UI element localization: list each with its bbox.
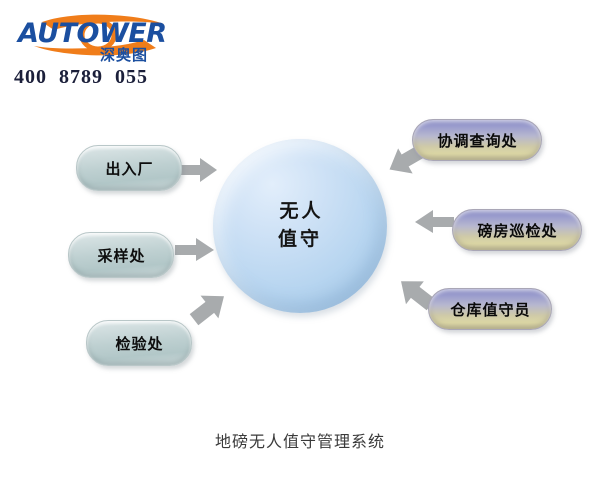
node-cangku-zhishouyuan[interactable]: 仓库值守员 xyxy=(428,288,552,330)
node-jianyanchu-label: 检验处 xyxy=(114,333,163,354)
node-xietiao-chaxunchu[interactable]: 协调查询处 xyxy=(412,119,542,161)
center-node-label: 无人 值守 xyxy=(276,198,323,253)
logo-wordmark: AUTOWER xyxy=(16,18,167,49)
node-caiyangchu-label: 采样处 xyxy=(96,245,145,266)
node-churuchang[interactable]: 出入厂 xyxy=(76,145,182,191)
logo-chinese-name: 深奥图 xyxy=(100,46,148,64)
node-caiyangchu[interactable]: 采样处 xyxy=(68,232,174,278)
node-jianyanchu[interactable]: 检验处 xyxy=(86,320,192,366)
node-xietiao-chaxunchu-label: 协调查询处 xyxy=(436,130,517,151)
diagram-caption: 地磅无人值守管理系统 xyxy=(0,428,600,452)
logo-artwork: AUTOWER 深奥图 xyxy=(14,8,184,64)
arrow-left-icon xyxy=(414,210,454,234)
arrow-right-icon xyxy=(175,238,215,262)
diagram-canvas: AUTOWER 深奥图 400 8789 055 xyxy=(0,0,600,480)
phone-number: 400 8789 055 xyxy=(14,66,148,89)
node-bangfang-xunjianchu[interactable]: 磅房巡检处 xyxy=(452,209,582,251)
arrow-up-right-icon xyxy=(188,288,230,328)
node-cangku-zhishouyuan-label: 仓库值守员 xyxy=(449,299,530,320)
autower-logo: AUTOWER 深奥图 xyxy=(14,8,184,64)
arrow-right-icon xyxy=(180,157,218,183)
node-churuchang-label: 出入厂 xyxy=(104,158,153,179)
node-bangfang-xunjianchu-label: 磅房巡检处 xyxy=(476,220,557,241)
center-node-unattended[interactable]: 无人 值守 xyxy=(213,139,387,313)
